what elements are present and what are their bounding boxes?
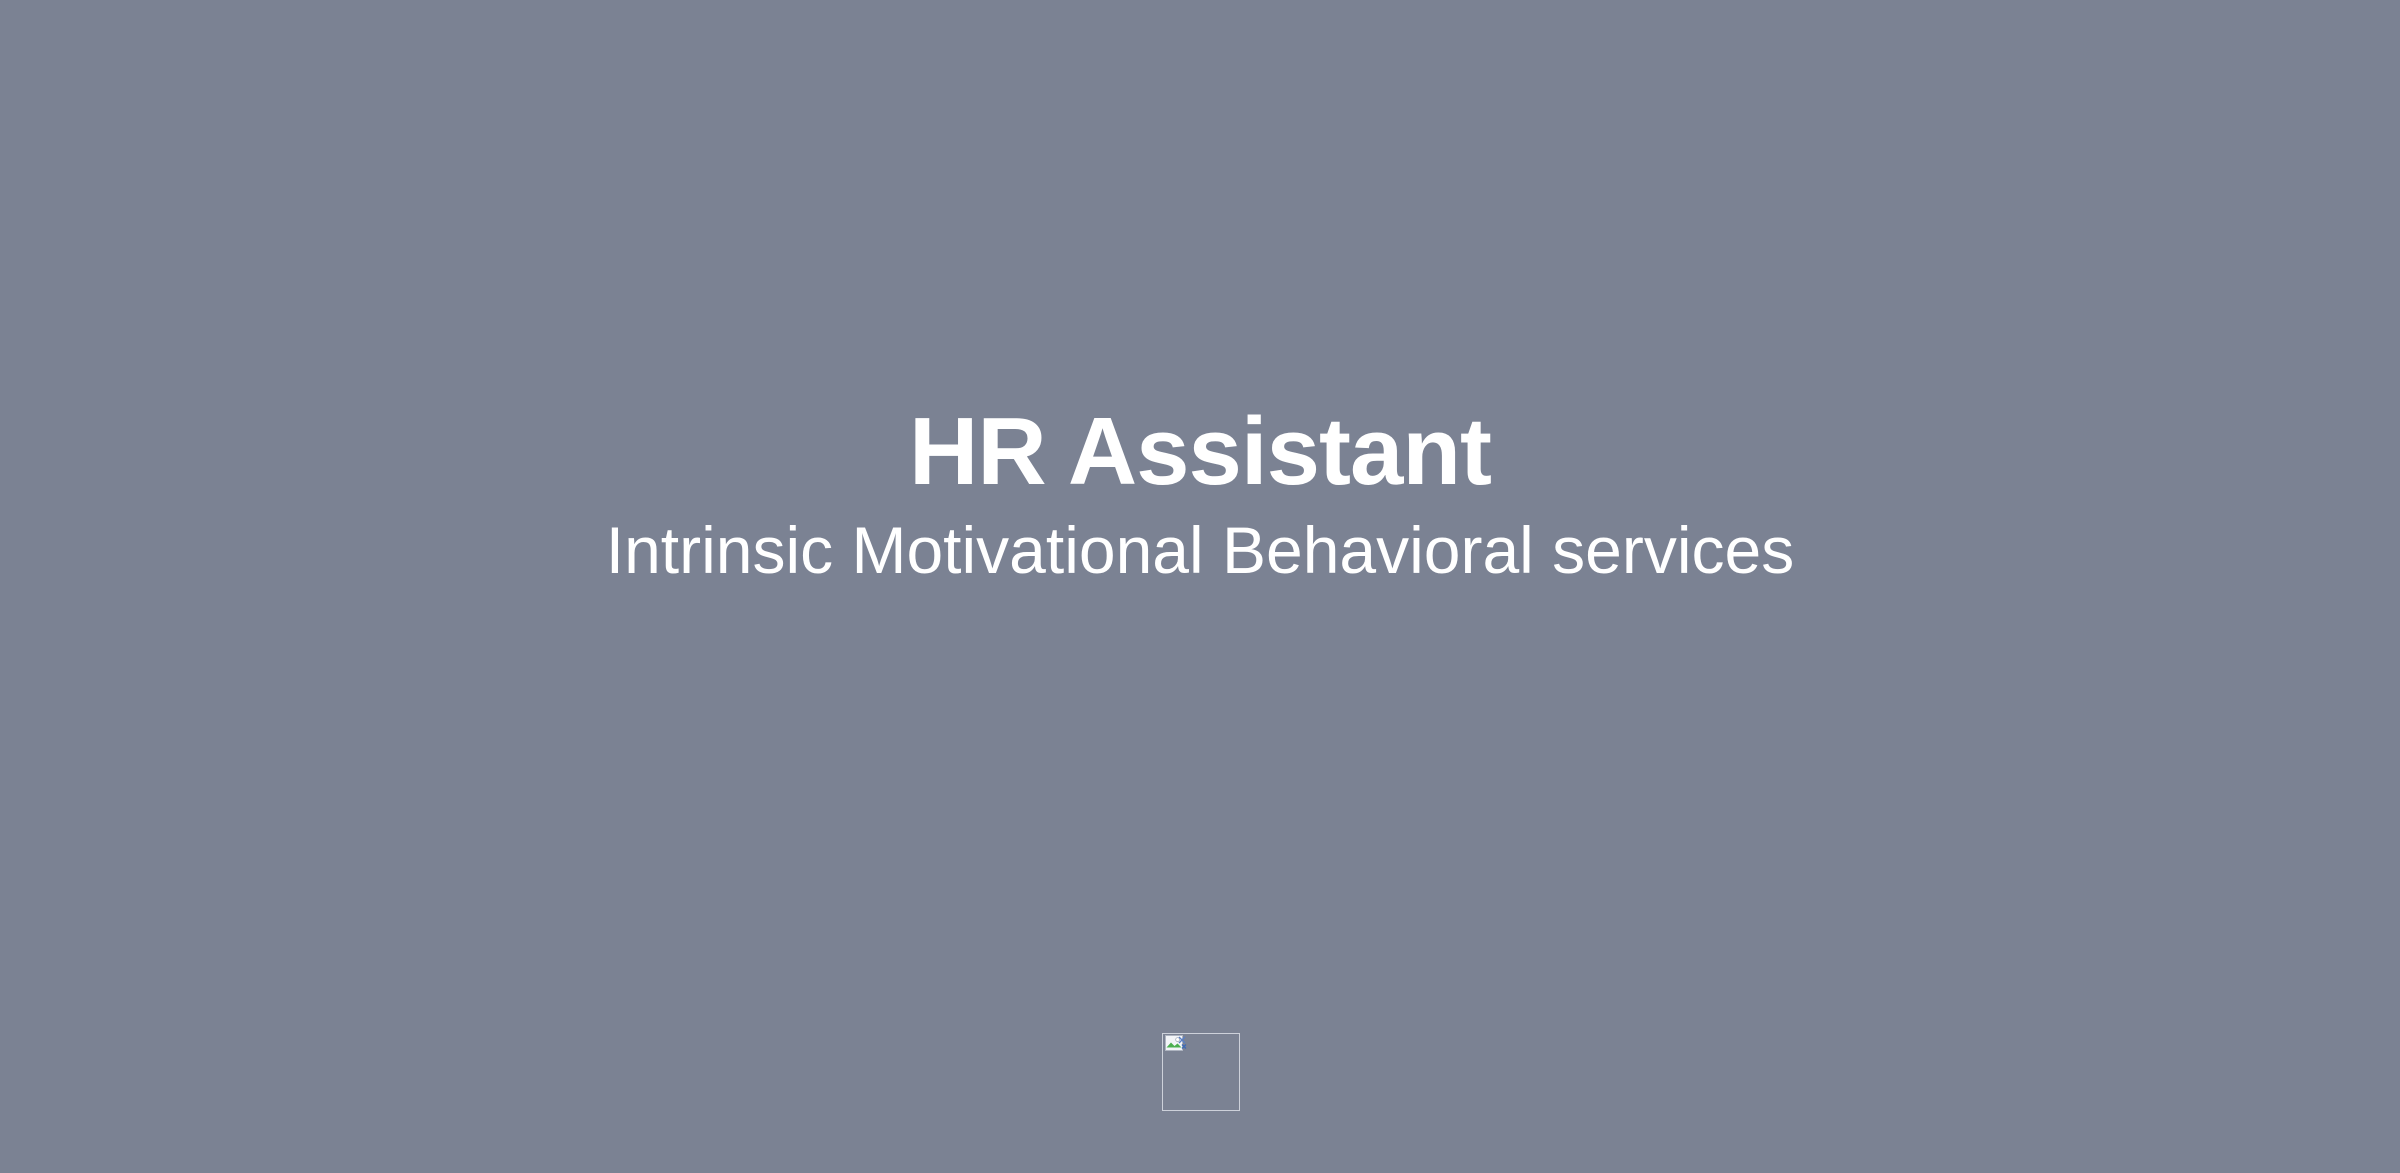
splash-screen: HR Assistant Intrinsic Motivational Beha… (0, 0, 2400, 1173)
page-subtitle: Intrinsic Motivational Behavioral servic… (0, 512, 2400, 590)
hero-block: HR Assistant Intrinsic Motivational Beha… (0, 398, 2400, 589)
page-title: HR Assistant (0, 398, 2400, 506)
broken-image-placeholder (1162, 1033, 1240, 1111)
logo-slot (1162, 1033, 1240, 1111)
broken-image-icon (1165, 1035, 1187, 1055)
